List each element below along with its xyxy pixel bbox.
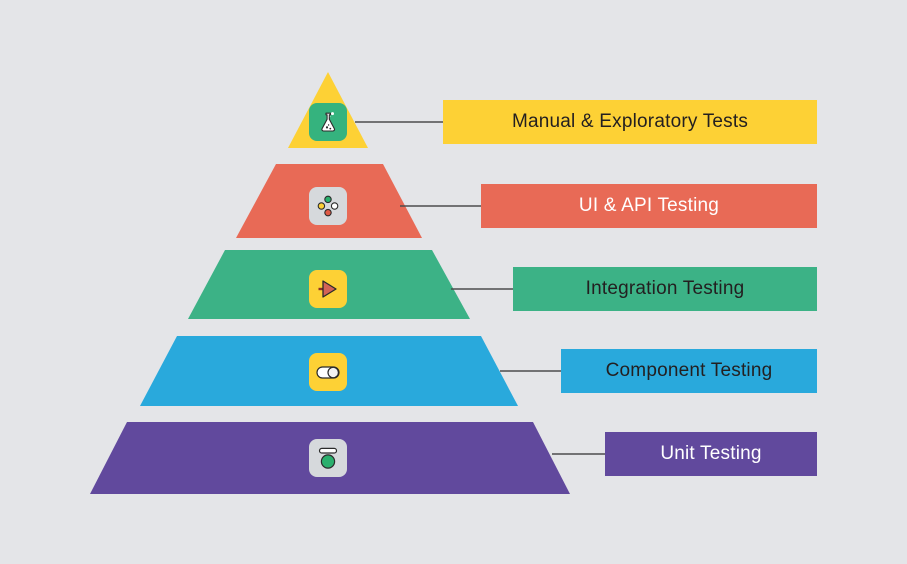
push-button-icon[interactable] xyxy=(309,439,347,477)
label-text-unit-testing: Unit Testing xyxy=(660,443,761,465)
label-box-ui-api-testing[interactable]: UI & API Testing xyxy=(481,184,817,228)
label-box-manual-exploratory-tests[interactable]: Manual & Exploratory Tests xyxy=(443,100,817,144)
flask-icon[interactable] xyxy=(309,103,347,141)
label-box-component-testing[interactable]: Component Testing xyxy=(561,349,817,393)
label-text-ui-api-testing: UI & API Testing xyxy=(579,195,719,217)
label-box-unit-testing[interactable]: Unit Testing xyxy=(605,432,817,476)
label-text-manual-exploratory-tests: Manual & Exploratory Tests xyxy=(512,111,748,133)
label-text-integration-testing: Integration Testing xyxy=(586,278,745,300)
label-box-integration-testing[interactable]: Integration Testing xyxy=(513,267,817,311)
four-dots-icon[interactable] xyxy=(309,187,347,225)
diagram-canvas: Manual & Exploratory Tests UI & API Test… xyxy=(0,0,907,564)
toggle-switch-icon[interactable] xyxy=(309,353,347,391)
play-arrow-icon[interactable] xyxy=(309,270,347,308)
label-text-component-testing: Component Testing xyxy=(606,360,773,382)
